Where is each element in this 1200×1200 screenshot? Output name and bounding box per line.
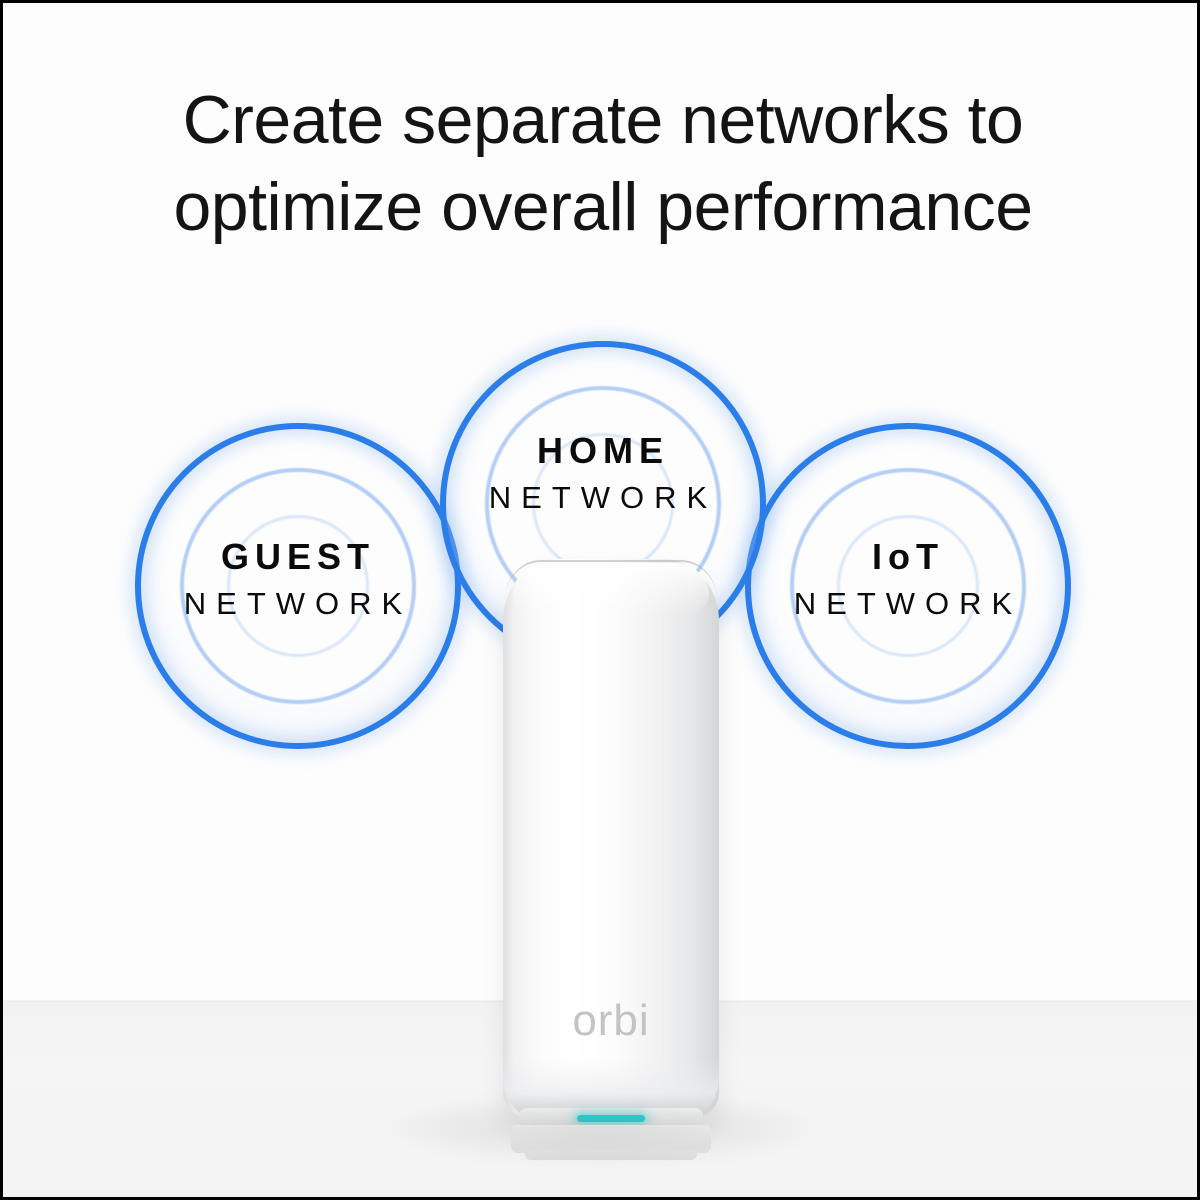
router-floor-shadow xyxy=(383,1093,823,1163)
network-name-home: HOME xyxy=(393,433,813,469)
product-marketing-image: Create separate networks to optimize ove… xyxy=(0,0,1200,1200)
router-top-edge xyxy=(505,560,717,620)
network-label-home: HOME NETWORK xyxy=(393,433,813,513)
orbi-router-device: orbi xyxy=(503,559,719,1161)
orbi-wordmark: orbi xyxy=(503,999,719,1043)
page-title: Create separate networks to optimize ove… xyxy=(3,77,1200,251)
network-sub-home: NETWORK xyxy=(393,482,813,513)
